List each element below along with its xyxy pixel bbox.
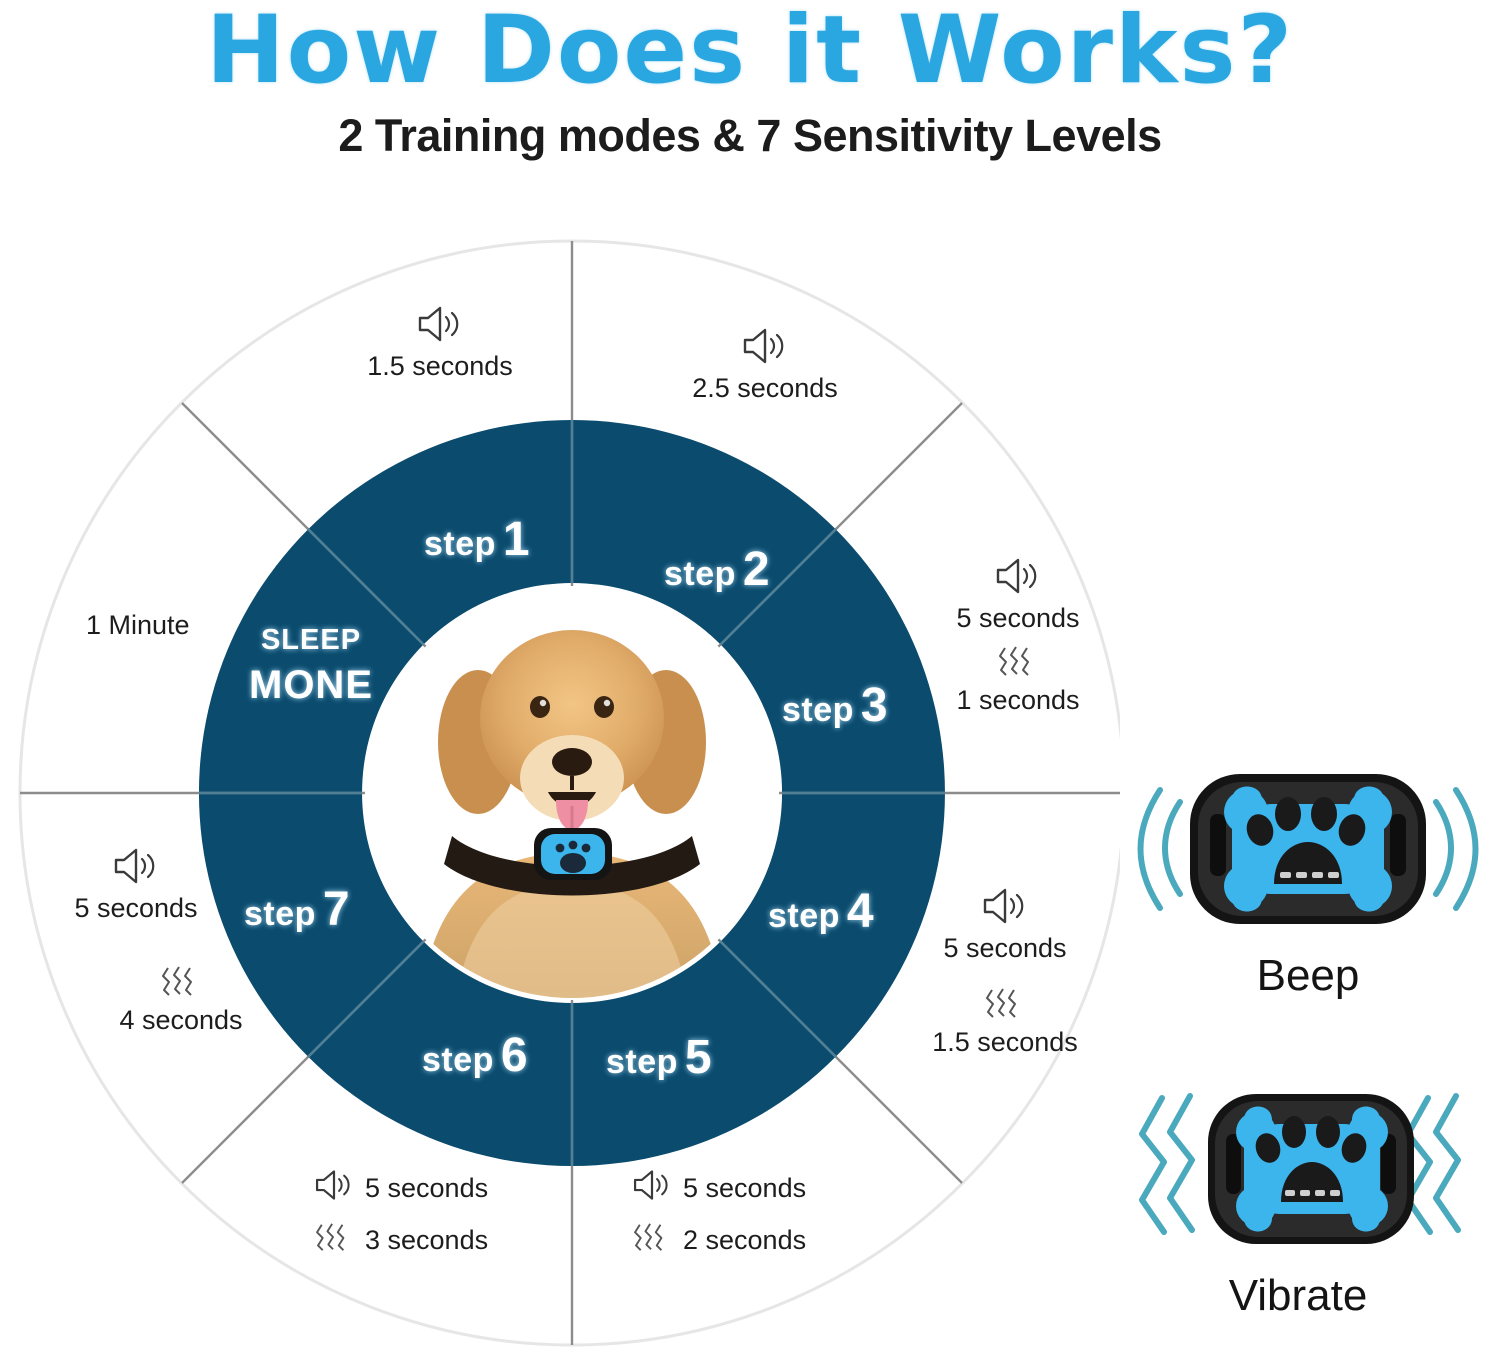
sound-arc-waves-right [1436,790,1476,908]
vibration-waves-icon [312,1221,356,1260]
sleep-mode-label: MONE [226,663,396,708]
note-step-3-vibrate-value: 1 seconds [956,685,1079,716]
note-step-6-beep-row: 5 seconds [312,1168,488,1209]
note-step-2: 2.5 seconds [652,326,878,404]
collar-device-on-dog [534,828,612,880]
note-step-7: 5 seconds [36,846,236,924]
speaker-sound-icon [414,304,466,351]
note-step-3: 5 seconds 1 seconds [928,556,1108,716]
vibrate-device-illustration [1118,1072,1498,1262]
beep-device-illustration [1128,752,1488,942]
vibration-waves-icon [630,1221,674,1260]
speaker-sound-icon [630,1168,674,1209]
vibration-waves-icon [158,964,204,1005]
note-sleep-duration: 1 Minute [86,610,190,641]
ring-sleep-sector-label: SLEEP MONE [226,624,396,708]
sleep-label: SLEEP [226,624,396,657]
note-step-6-vibrate-value: 3 seconds [365,1225,488,1256]
note-step-7-vibrate: 4 seconds [76,964,286,1036]
note-step-5-vibrate-row: 2 seconds [630,1221,806,1260]
speaker-sound-icon [110,846,162,893]
note-step-3-beep-value: 5 seconds [956,603,1079,634]
note-step-6-vibrate-row: 3 seconds [312,1221,488,1260]
note-step-5-beep-row: 5 seconds [630,1168,806,1209]
vibration-waves-icon [995,644,1041,685]
speaker-sound-icon [979,886,1031,933]
vibration-zigzag-right [1408,1096,1458,1232]
note-step-5: 5 seconds 2 seconds [630,1168,806,1260]
note-step-5-vibrate-value: 2 seconds [683,1225,806,1256]
note-step-1: 1.5 seconds [330,304,550,382]
note-step-6: 5 seconds 3 seconds [312,1168,488,1260]
speaker-sound-icon [312,1168,356,1209]
speaker-sound-icon [739,326,791,373]
device-vibrate: Vibrate [1118,1072,1478,1321]
speaker-sound-icon [992,556,1044,603]
note-step-5-beep-value: 5 seconds [683,1173,806,1204]
sound-arc-waves-left [1141,790,1181,908]
note-step-4: 5 seconds 1.5 seconds [900,886,1110,1058]
vibrate-caption: Vibrate [1118,1271,1478,1321]
device-beep: Beep [1128,752,1488,1001]
note-step-6-beep-value: 5 seconds [365,1173,488,1204]
note-step-4-beep-value: 5 seconds [943,933,1066,964]
note-step-7-vibrate-value: 4 seconds [119,1005,242,1036]
note-step-1-beep-value: 1.5 seconds [367,351,513,382]
note-step-2-beep-value: 2.5 seconds [692,373,838,404]
vibration-waves-icon [982,986,1028,1027]
vibration-zigzag-left [1142,1096,1192,1232]
note-step-7-beep-value: 5 seconds [74,893,197,924]
note-step-4-vibrate-value: 1.5 seconds [932,1027,1078,1058]
beep-caption: Beep [1128,951,1488,1001]
